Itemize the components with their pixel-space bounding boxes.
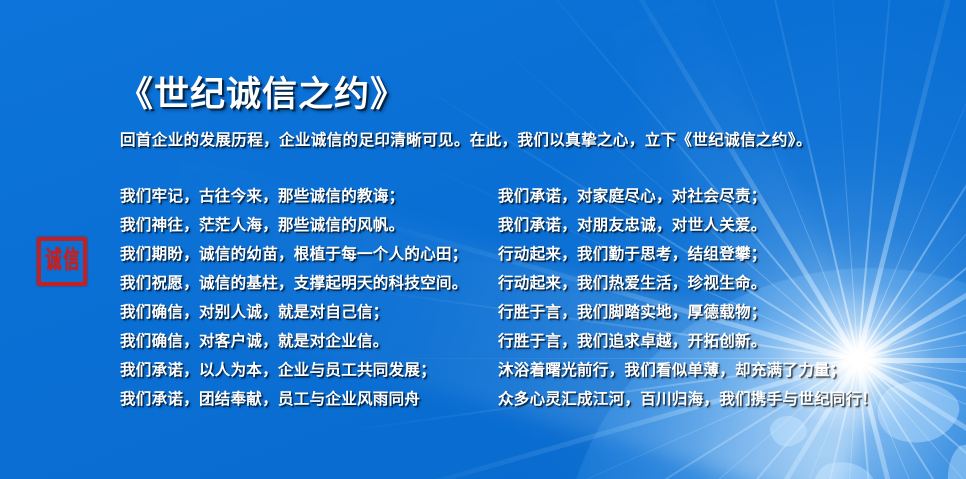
vow-line: 行动起来，我们热爱生活，珍视生命。 — [498, 269, 877, 298]
vow-column-left: 我们牢记，古往今来，那些诚信的教诲； 我们神往，茫茫人海，那些诚信的风帆。 我们… — [120, 182, 468, 414]
vow-column-right: 我们承诺，对家庭尽心，对社会尽责； 我们承诺，对朋友忠诚，对世人关爱。 行动起来… — [498, 182, 877, 414]
vow-line: 我们确信，对别人诚，就是对自己信； — [120, 298, 468, 327]
vow-line: 我们神往，茫茫人海，那些诚信的风帆。 — [120, 211, 468, 240]
vow-line: 我们承诺，对朋友忠诚，对世人关爱。 — [498, 211, 877, 240]
vow-line: 行胜于言，我们追求卓越，开拓创新。 — [498, 327, 877, 356]
vow-line: 我们期盼，诚信的幼苗，根植于每一个人的心田； — [120, 240, 468, 269]
vow-line: 行胜于言，我们脚踏实地，厚德载物； — [498, 298, 877, 327]
red-seal-stamp-icon: 诚 信 — [37, 237, 87, 286]
seal-char-1: 诚 — [45, 249, 61, 274]
seal-characters: 诚 信 — [43, 243, 81, 280]
vow-line: 我们承诺，团结奉献，员工与企业风雨同舟 — [120, 385, 468, 414]
vow-line: 我们牢记，古往今来，那些诚信的教诲； — [120, 182, 468, 211]
vow-line: 众多心灵汇成江河，百川归海，我们携手与世纪同行！ — [498, 385, 877, 414]
vow-line: 我们祝愿，诚信的基柱，支撑起明天的科技空间。 — [120, 269, 468, 298]
vow-line: 我们承诺，对家庭尽心，对社会尽责； — [498, 182, 877, 211]
seal-char-2: 信 — [63, 249, 79, 274]
vow-line: 我们确信，对客户诚，就是对企业信。 — [120, 327, 468, 356]
page-title: 《世纪诚信之约》 — [118, 66, 406, 117]
poster-canvas: 《世纪诚信之约》 回首企业的发展历程，企业诚信的足印清晰可见。在此，我们以真挚之… — [0, 0, 966, 479]
vow-line: 我们承诺，以人为本，企业与员工共同发展； — [120, 356, 468, 385]
poster-content: 《世纪诚信之约》 回首企业的发展历程，企业诚信的足印清晰可见。在此，我们以真挚之… — [0, 0, 966, 479]
page-subtitle: 回首企业的发展历程，企业诚信的足印清晰可见。在此，我们以真挚之心，立下《世纪诚信… — [120, 128, 812, 150]
vow-line: 沐浴着曙光前行，我们看似单薄，却充满了力量； — [498, 356, 877, 385]
vow-line: 行动起来，我们勤于思考，结组登攀； — [498, 240, 877, 269]
